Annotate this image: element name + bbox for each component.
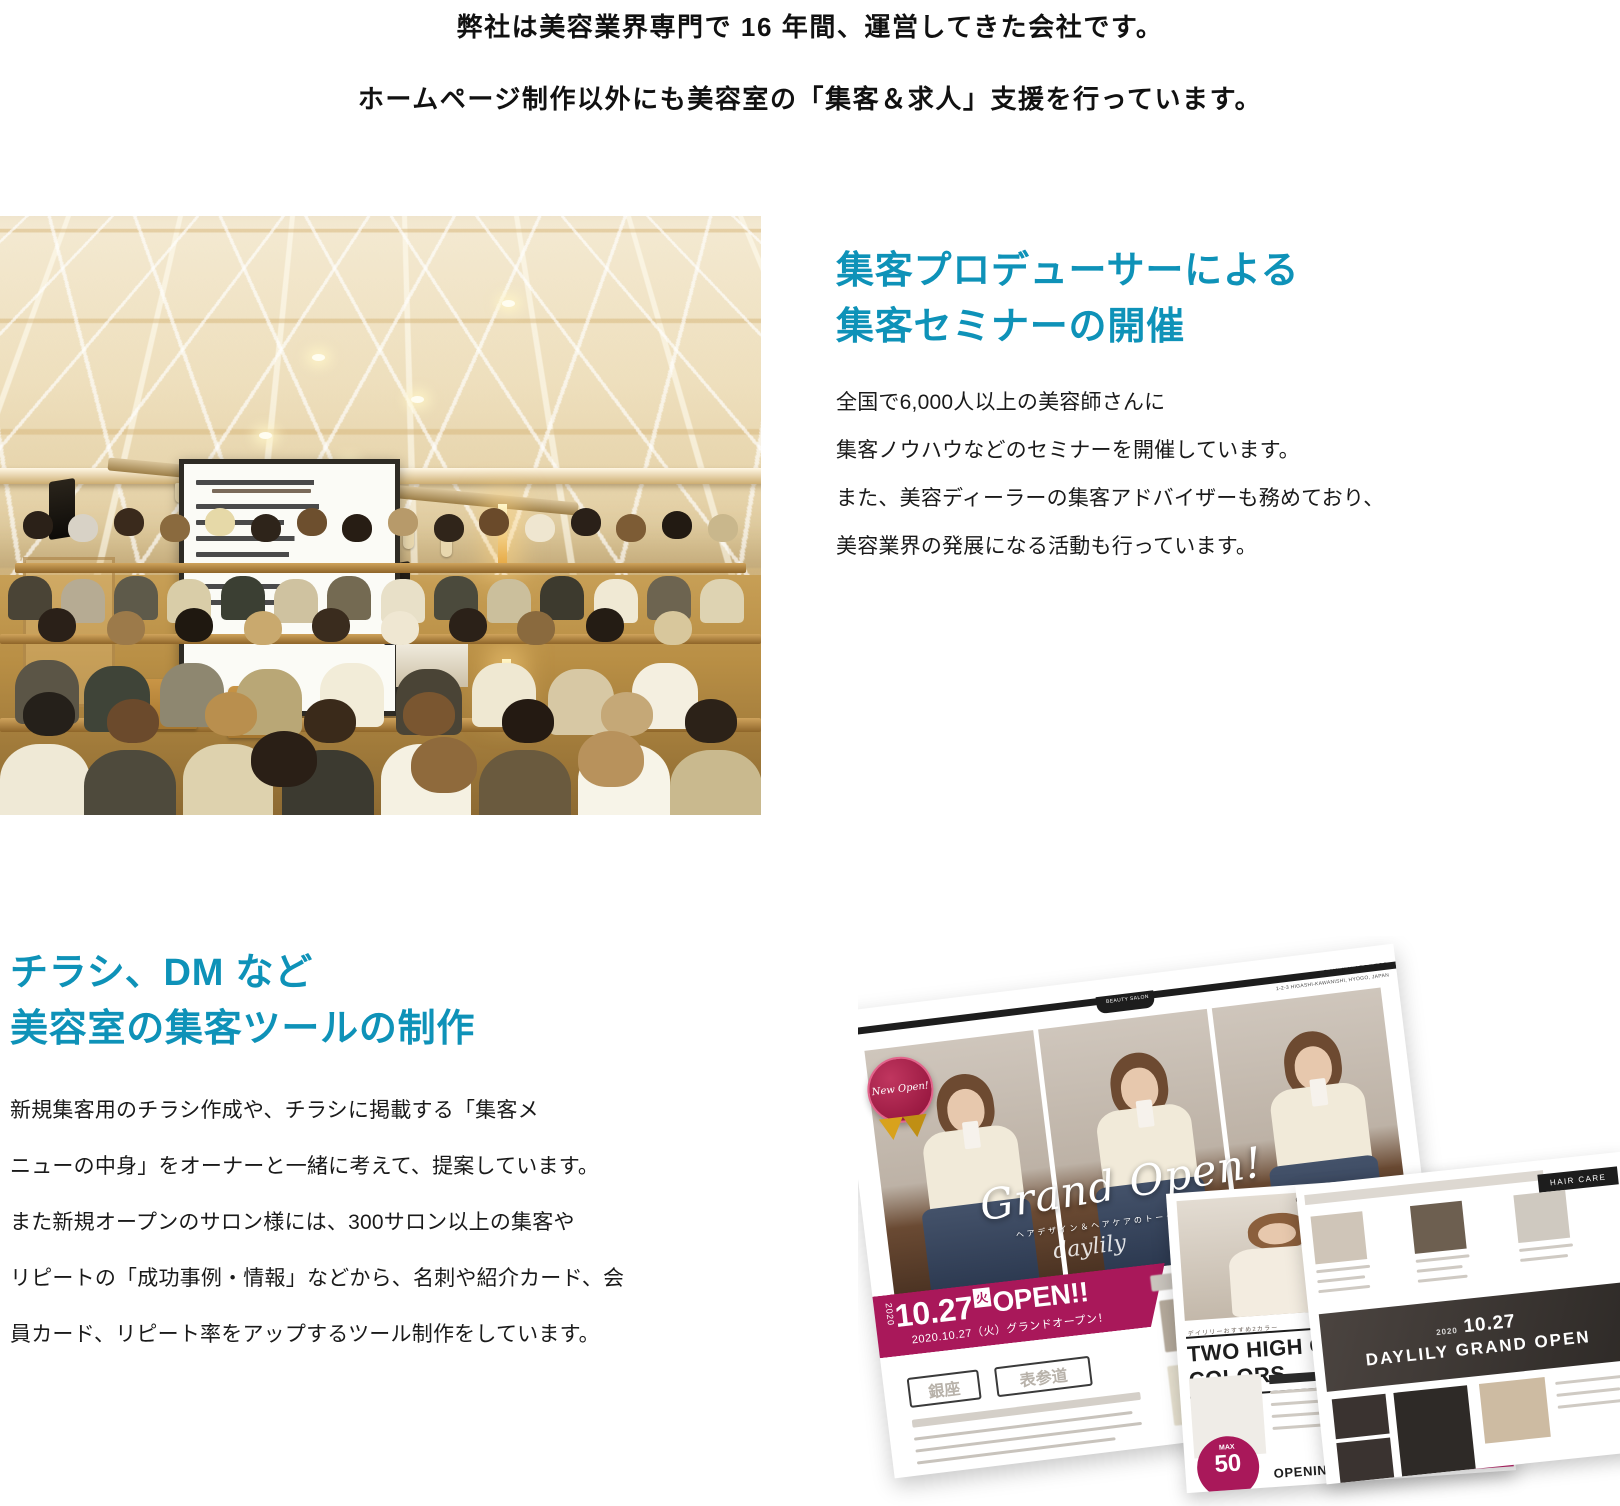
flyer-haircare: HAIR CARE 2020 10.27 DAYLILY GRAND OPEN [1295, 1152, 1620, 1485]
seminar-body: 全国で6,000人以上の美容師さんに 集客ノウハウなどのセミナーを開催しています… [836, 379, 1536, 571]
tools-body-line: また新規オープンのサロン様には、300サロン以上の集客や [10, 1195, 710, 1251]
tools-text-block: チラシ、DM など 美容室の集客ツールの制作 新規集客用のチラシ作成や、チラシに… [10, 945, 710, 1363]
intro-block: 弊社は美容業界専門で 16 年間、運営してきた会社です。 ホームページ制作以外に… [0, 0, 1620, 124]
intro-line-1: 弊社は美容業界専門で 16 年間、運営してきた会社です。 [0, 2, 1620, 52]
flyer-tag-2: 表参道 [994, 1356, 1093, 1397]
seminar-body-line: 集客ノウハウなどのセミナーを開催しています。 [836, 427, 1536, 475]
downlight-icon [259, 432, 272, 439]
tools-heading-line-2: 美容室の集客ツールの制作 [10, 1001, 710, 1057]
tools-heading-line-1: チラシ、DM など [10, 945, 710, 1001]
tools-body-line: 新規集客用のチラシ作成や、チラシに掲載する「集客メ [10, 1083, 710, 1139]
open-day: 火 [973, 1287, 991, 1308]
intro-line-2: ホームページ制作以外にも美容室の「集客＆求人」支援を行っています。 [0, 74, 1620, 124]
audience-seating [0, 492, 761, 815]
seminar-body-line: 美容業界の発展になる活動も行っています。 [836, 523, 1536, 571]
tools-body-line: ニューの中身」をオーナーと一緒に考えて、提案しています。 [10, 1139, 710, 1195]
seminar-heading-line-2: 集客セミナーの開催 [836, 299, 1536, 355]
seminar-text-block: 集客プロデューサーによる 集客セミナーの開催 全国で6,000人以上の美容師さん… [836, 243, 1536, 571]
tools-body-line: リピートの「成功事例・情報」などから、名刺や紹介カード、会 [10, 1251, 710, 1307]
flyer-showcase-panel: BEAUTY SALON DAYLILY ADDRESS 1-2-3 HIGAS… [858, 936, 1620, 1506]
banner-year: 2020 [1436, 1326, 1458, 1337]
badge-value: 50 [1196, 1449, 1260, 1479]
grand-open-banner: 2020 10.27 DAYLILY GRAND OPEN [1319, 1282, 1620, 1392]
downlight-icon [411, 396, 424, 403]
ribbon-icon [879, 1117, 906, 1142]
seminar-heading-line-1: 集客プロデューサーによる [836, 243, 1536, 299]
haircare-tag: HAIR CARE [1537, 1166, 1618, 1192]
downlight-icon [502, 300, 515, 307]
tools-body-line: 員カード、リピート率をアップするツール制作をしています。 [10, 1307, 710, 1363]
tools-body: 新規集客用のチラシ作成や、チラシに掲載する「集客メ ニューの中身」をオーナーと一… [10, 1083, 710, 1363]
ribbon-icon [903, 1114, 930, 1139]
seminar-body-line: 全国で6,000人以上の美容師さんに [836, 379, 1536, 427]
downlight-icon [312, 354, 325, 361]
banner-date: 10.27 [1463, 1311, 1517, 1337]
seminar-hall-photo [0, 216, 761, 815]
flyer-tag-1: 銀座 [907, 1369, 982, 1408]
seminar-body-line: また、美容ディーラーの集客アドバイザーも務めており、 [836, 475, 1536, 523]
